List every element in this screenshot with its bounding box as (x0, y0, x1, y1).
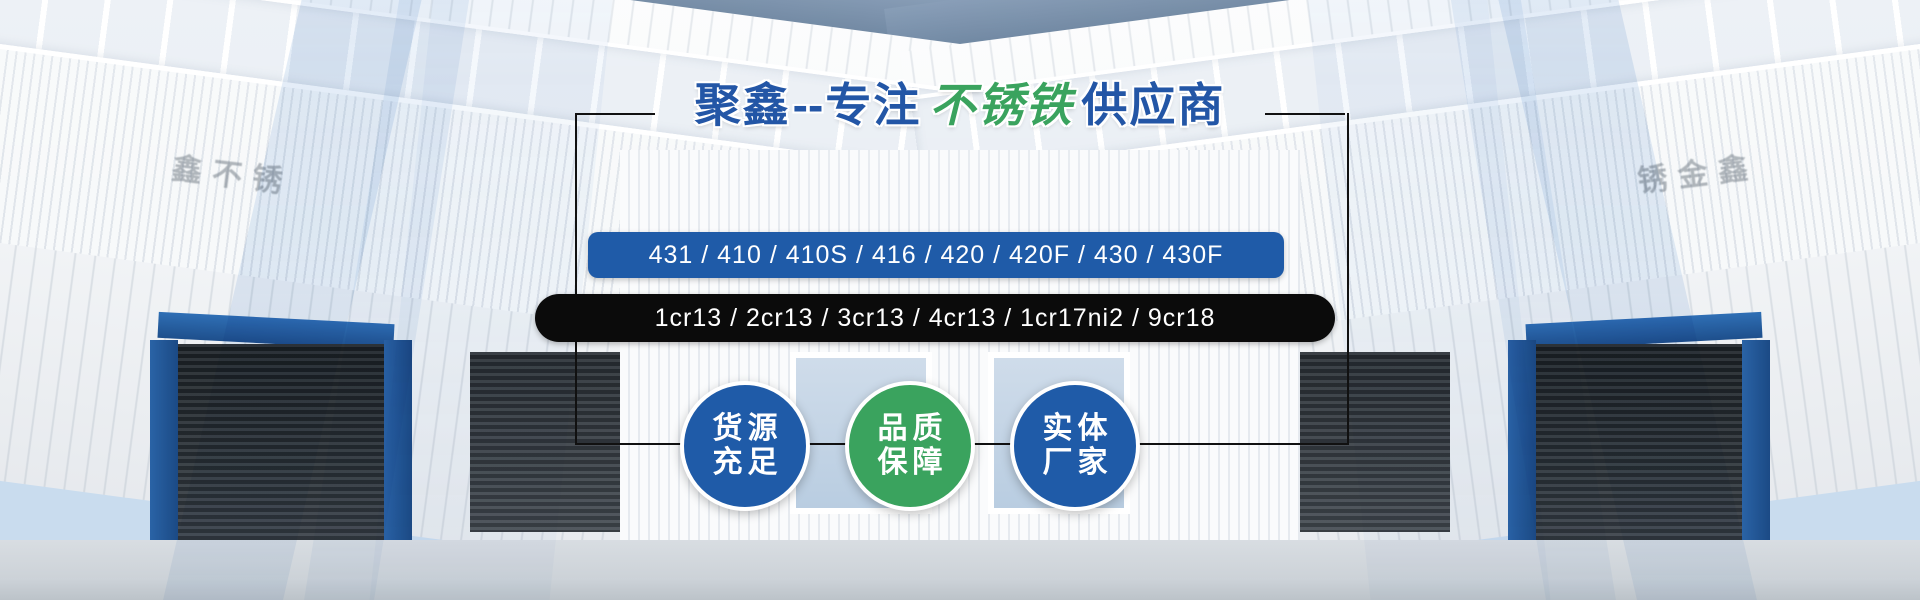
badge-line-2: 充足 (708, 446, 783, 480)
banner-content: 聚鑫--专注不锈铁供应商 431 / 410 / 410S / 416 / 42… (0, 0, 1920, 600)
headline-brand: 聚鑫 (695, 82, 791, 128)
headline-focus: 专注 (825, 82, 921, 128)
promo-banner: 鑫 不 锈 锈 金 鑫 (0, 0, 1920, 600)
badge-line-1: 品质 (873, 412, 948, 446)
badge-line-2: 保障 (873, 446, 948, 480)
banner-headline: 聚鑫--专注不锈铁供应商 (0, 82, 1920, 128)
badge-supply-sufficient[interactable]: 货源 充足 (680, 381, 810, 511)
headline-dash: -- (791, 82, 826, 128)
badge-line-1: 实体 (1038, 412, 1113, 446)
grade-bar-secondary[interactable]: 1cr13 / 2cr13 / 3cr13 / 4cr13 / 1cr17ni2… (535, 294, 1335, 342)
badge-real-factory[interactable]: 实体 厂家 (1010, 381, 1140, 511)
badge-quality-guarantee[interactable]: 品质 保障 (845, 381, 975, 511)
headline-highlight: 不锈铁 (921, 82, 1081, 128)
badge-line-2: 厂家 (1038, 446, 1113, 480)
badge-line-1: 货源 (708, 412, 783, 446)
grade-bar-primary[interactable]: 431 / 410 / 410S / 416 / 420 / 420F / 43… (588, 232, 1284, 278)
headline-supplier: 供应商 (1081, 82, 1225, 128)
